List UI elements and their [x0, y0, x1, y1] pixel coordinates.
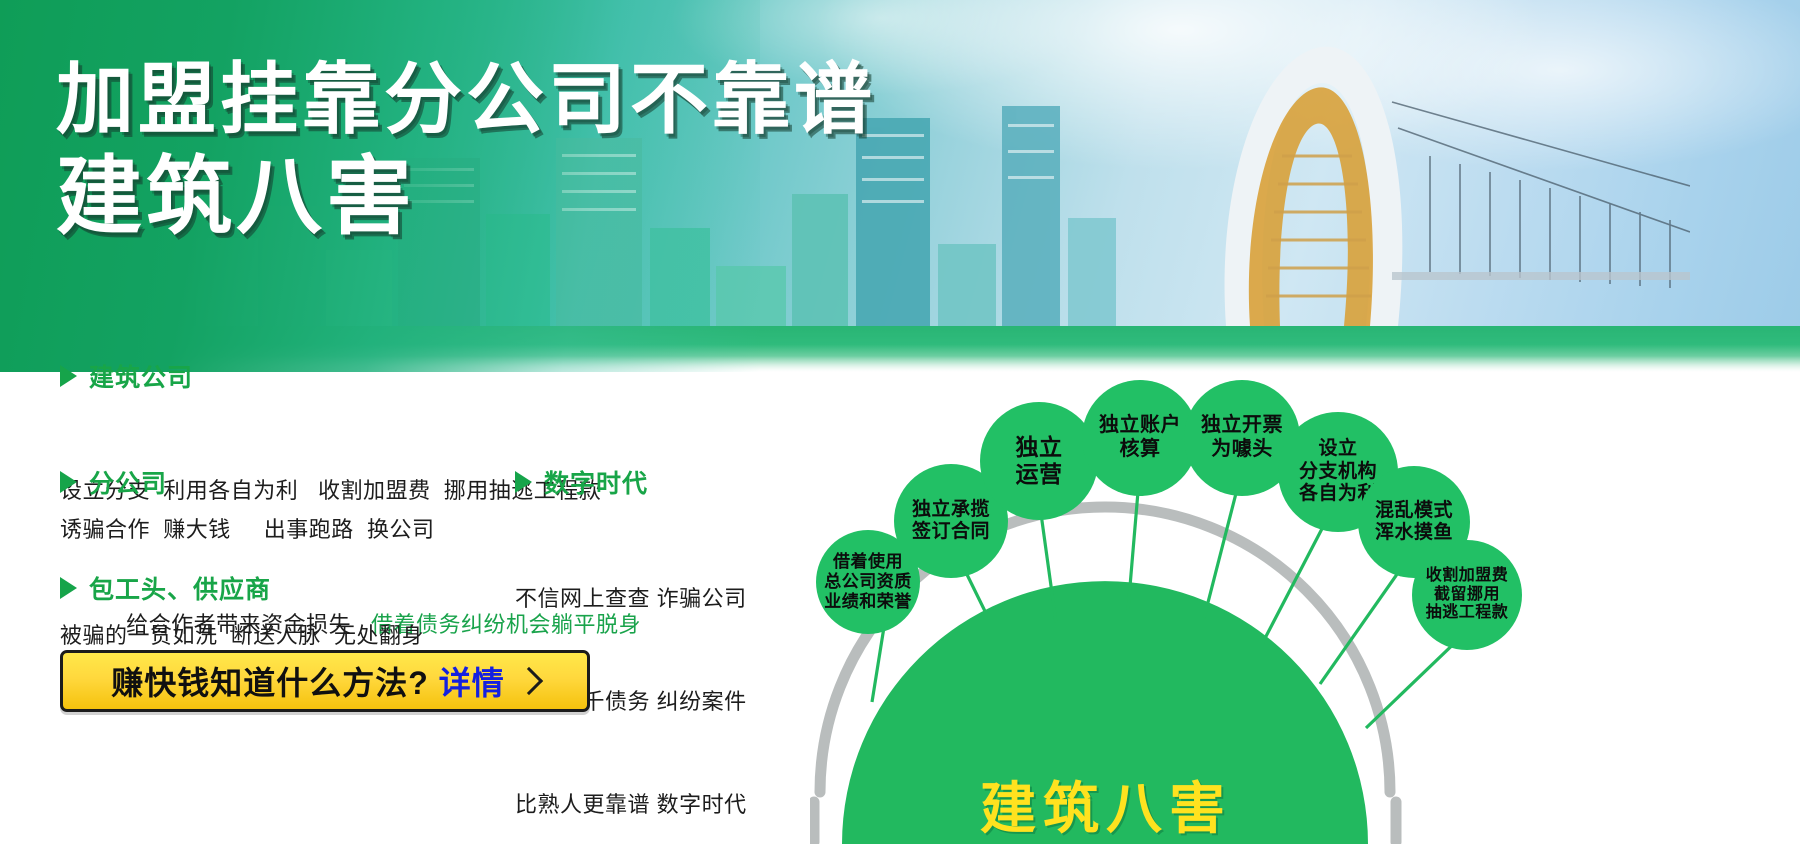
bridge-landmark-icon [1130, 36, 1690, 326]
section-heading: 数字时代 [515, 464, 747, 500]
triangle-bullet-icon [515, 471, 532, 493]
section-branch-company: 分公司 诱骗合作 赚大钱 出事跑路 换公司 [60, 464, 435, 546]
poster-root: 加盟挂靠分公司不靠谱 建筑八害 建筑公司 设立分支 利用各自为利 收割加盟费 挪… [0, 0, 1800, 844]
triangle-bullet-icon [60, 471, 77, 493]
triangle-bullet-icon [60, 577, 77, 599]
section-heading: 分公司 [60, 464, 435, 500]
hero-title-line-1: 加盟挂靠分公司不靠谱 [56, 60, 876, 140]
section-contractor-supplier: 包工头、供应商 被骗的一贫如洗 断送人脉 无处翻身 [60, 570, 424, 652]
triangle-bullet-icon [60, 365, 77, 387]
bubble-independent-account[interactable]: 独立账户 核算 [1082, 380, 1198, 496]
section-line-1: 不信网上查查 诈骗公司 [515, 582, 747, 616]
details-cta-button[interactable]: 赚快钱知道什么方法? 详情 [60, 650, 590, 712]
hero-title-line-2: 建筑八害 [56, 154, 876, 242]
section-heading: 建筑公司 [60, 358, 641, 394]
section-heading: 包工头、供应商 [60, 570, 424, 606]
page-title: 加盟挂靠分公司不靠谱 建筑八害 [56, 60, 876, 241]
left-content-column: 建筑公司 设立分支 利用各自为利 收割加盟费 挪用抽逃工程款 给合作者带来资金损… [0, 372, 810, 844]
eight-harms-diagram: 借着使用 总公司资质 业绩和荣誉 独立承揽 签订合同 独立 运营 独立账户 核算… [810, 372, 1800, 844]
section-body: 诱骗合作 赚大钱 出事跑路 换公司 [60, 513, 435, 546]
bubble-independent-operation[interactable]: 独立 运营 [980, 402, 1098, 520]
section-title: 分公司 [89, 464, 167, 500]
hero-banner: 加盟挂靠分公司不靠谱 建筑八害 [0, 0, 1800, 372]
cta-main-label: 赚快钱知道什么方法? [111, 658, 429, 704]
section-title: 数字时代 [544, 464, 648, 500]
section-title: 包工头、供应商 [89, 570, 271, 606]
section-title: 建筑公司 [89, 358, 193, 394]
bubble-franchise-fee-diversion[interactable]: 收割加盟费 截留挪用 抽逃工程款 [1412, 540, 1522, 650]
arch-center-label: 建筑八害 [980, 764, 1232, 844]
section-line-3: 比熟人更靠谱 数字时代 [515, 788, 747, 822]
chevron-right-icon [515, 667, 543, 695]
section-body: 被骗的一贫如洗 断送人脉 无处翻身 [60, 619, 424, 652]
cta-link-label: 详情 [439, 658, 505, 704]
